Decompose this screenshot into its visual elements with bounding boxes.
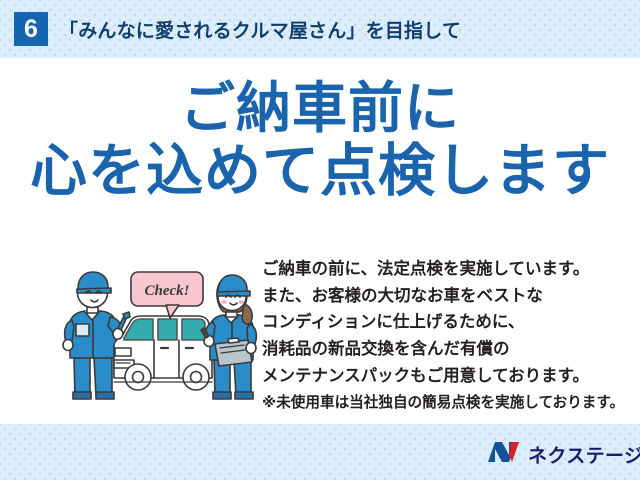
step-number-badge: 6 xyxy=(14,12,48,46)
van xyxy=(114,316,212,390)
description-line-3: コンディションに仕上げるために、 xyxy=(262,309,634,336)
headline-line-2: 心を込めて点検します xyxy=(0,140,640,204)
speech-bubble-label: Check! xyxy=(145,283,190,299)
page-title: ご納車前に 心を込めて点検します xyxy=(0,78,640,203)
mechanics-van-illustration: Check! xyxy=(58,262,263,402)
description-line-2: また、お客様の大切なお車をベストな xyxy=(262,283,634,310)
promo-slide: 6 「みんなに愛されるクルマ屋さん」を目指して ご納車前に 心を込めて点検します xyxy=(0,0,640,480)
description-line-4: 消耗品の新品交換を含んだ有償の xyxy=(262,336,634,363)
description-line-1: ご納車の前に、法定点検を実施しています。 xyxy=(262,256,634,283)
slide-header: 6 「みんなに愛されるクルマ屋さん」を目指して xyxy=(0,0,640,58)
header-title: 「みんなに愛されるクルマ屋さん」を目指して xyxy=(59,16,461,43)
description-footnote: ※未使用車は当社独自の簡易点検を実施しております。 xyxy=(262,392,634,415)
brand-name: ネクステージ xyxy=(528,441,640,468)
content-panel: ご納車前に 心を込めて点検します xyxy=(0,58,640,424)
nextage-n-mark-icon xyxy=(487,440,521,469)
description-text: ご納車の前に、法定点検を実施しています。 また、お客様の大切なお車をベストな コ… xyxy=(262,256,634,415)
mechanic-left xyxy=(63,272,130,399)
description-line-5: メンテナンスパックもご用意しております。 xyxy=(262,363,634,390)
headline-line-1: ご納車前に xyxy=(0,78,640,140)
brand-logo: ネクステージ xyxy=(487,441,640,467)
